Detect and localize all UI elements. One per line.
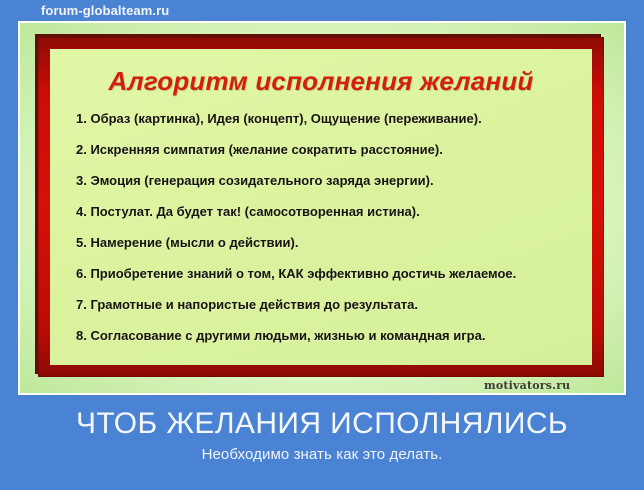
motivational-poster: forum-globalteam.ru Алгоритм исполнения … <box>0 0 644 490</box>
caption-block: ЧТОБ ЖЕЛАНИЯ ИСПОЛНЯЛИСЬ Необходимо знат… <box>0 406 644 463</box>
list-item: 5. Намерение (мысли о действии). <box>76 235 578 250</box>
page-title: Алгоритм исполнения желаний <box>50 66 592 97</box>
list-item: 6. Приобретение знаний о том, КАК эффект… <box>76 266 578 281</box>
site-watermark-top: forum-globalteam.ru <box>41 3 169 18</box>
list-item: 4. Постулат. Да будет так! (самосотворен… <box>76 204 578 219</box>
algorithm-list: 1. Образ (картинка), Идея (концепт), Ощу… <box>76 111 578 359</box>
list-item: 7. Грамотные и напористые действия до ре… <box>76 297 578 312</box>
list-item: 3. Эмоция (генерация созидательного заря… <box>76 173 578 188</box>
outer-white-frame: Алгоритм исполнения желаний 1. Образ (ка… <box>18 21 626 395</box>
site-watermark-bottom: motivators.ru <box>484 379 570 392</box>
list-item: 1. Образ (картинка), Идея (концепт), Ощу… <box>76 111 578 126</box>
caption-subline: Необходимо знать как это делать. <box>0 446 644 463</box>
list-item: 8. Согласование с другими людьми, жизнью… <box>76 328 578 343</box>
content-panel: Алгоритм исполнения желаний 1. Образ (ка… <box>50 49 592 365</box>
caption-headline: ЧТОБ ЖЕЛАНИЯ ИСПОЛНЯЛИСЬ <box>0 406 644 442</box>
red-frame: Алгоритм исполнения желаний 1. Образ (ка… <box>38 37 604 377</box>
list-item: 2. Искренняя симпатия (желание сократить… <box>76 142 578 157</box>
